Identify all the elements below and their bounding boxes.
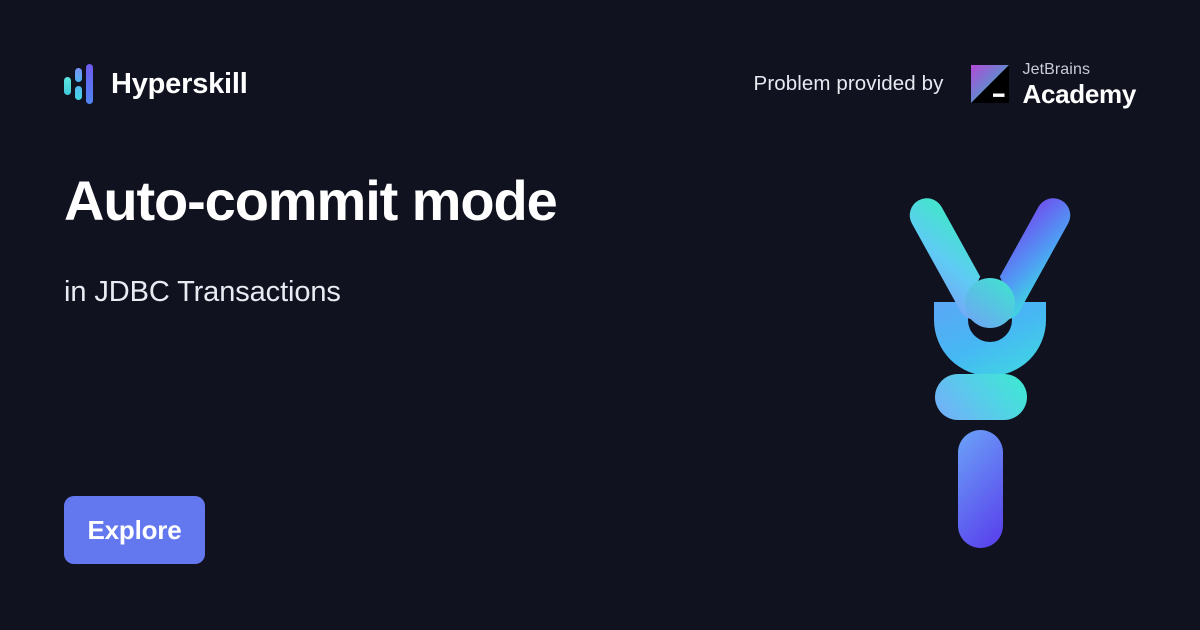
explore-button[interactable]: Explore — [64, 496, 205, 564]
jetbrains-word: JetBrains — [1022, 62, 1136, 78]
hyperskill-torch-illustration — [900, 180, 1080, 560]
hyperskill-wordmark: Hyperskill — [111, 70, 248, 99]
page-title: Auto-commit mode — [64, 170, 557, 232]
page-subtitle: in JDBC Transactions — [64, 275, 341, 310]
provider-lockup: Problem provided by — [754, 62, 1136, 107]
hyperskill-bars-icon — [64, 64, 94, 104]
header: Hyperskill Problem provided by — [64, 56, 1136, 112]
academy-word: Academy — [1022, 81, 1136, 107]
jetbrains-academy-wordmark: JetBrains Academy — [1022, 62, 1136, 107]
share-card: Hyperskill Problem provided by — [0, 0, 1200, 630]
jetbrains-square-icon — [971, 65, 1009, 103]
jetbrains-academy-logo[interactable]: JetBrains Academy — [971, 62, 1136, 107]
hyperskill-brand[interactable]: Hyperskill — [64, 64, 248, 104]
provider-label: Problem provided by — [754, 72, 944, 96]
